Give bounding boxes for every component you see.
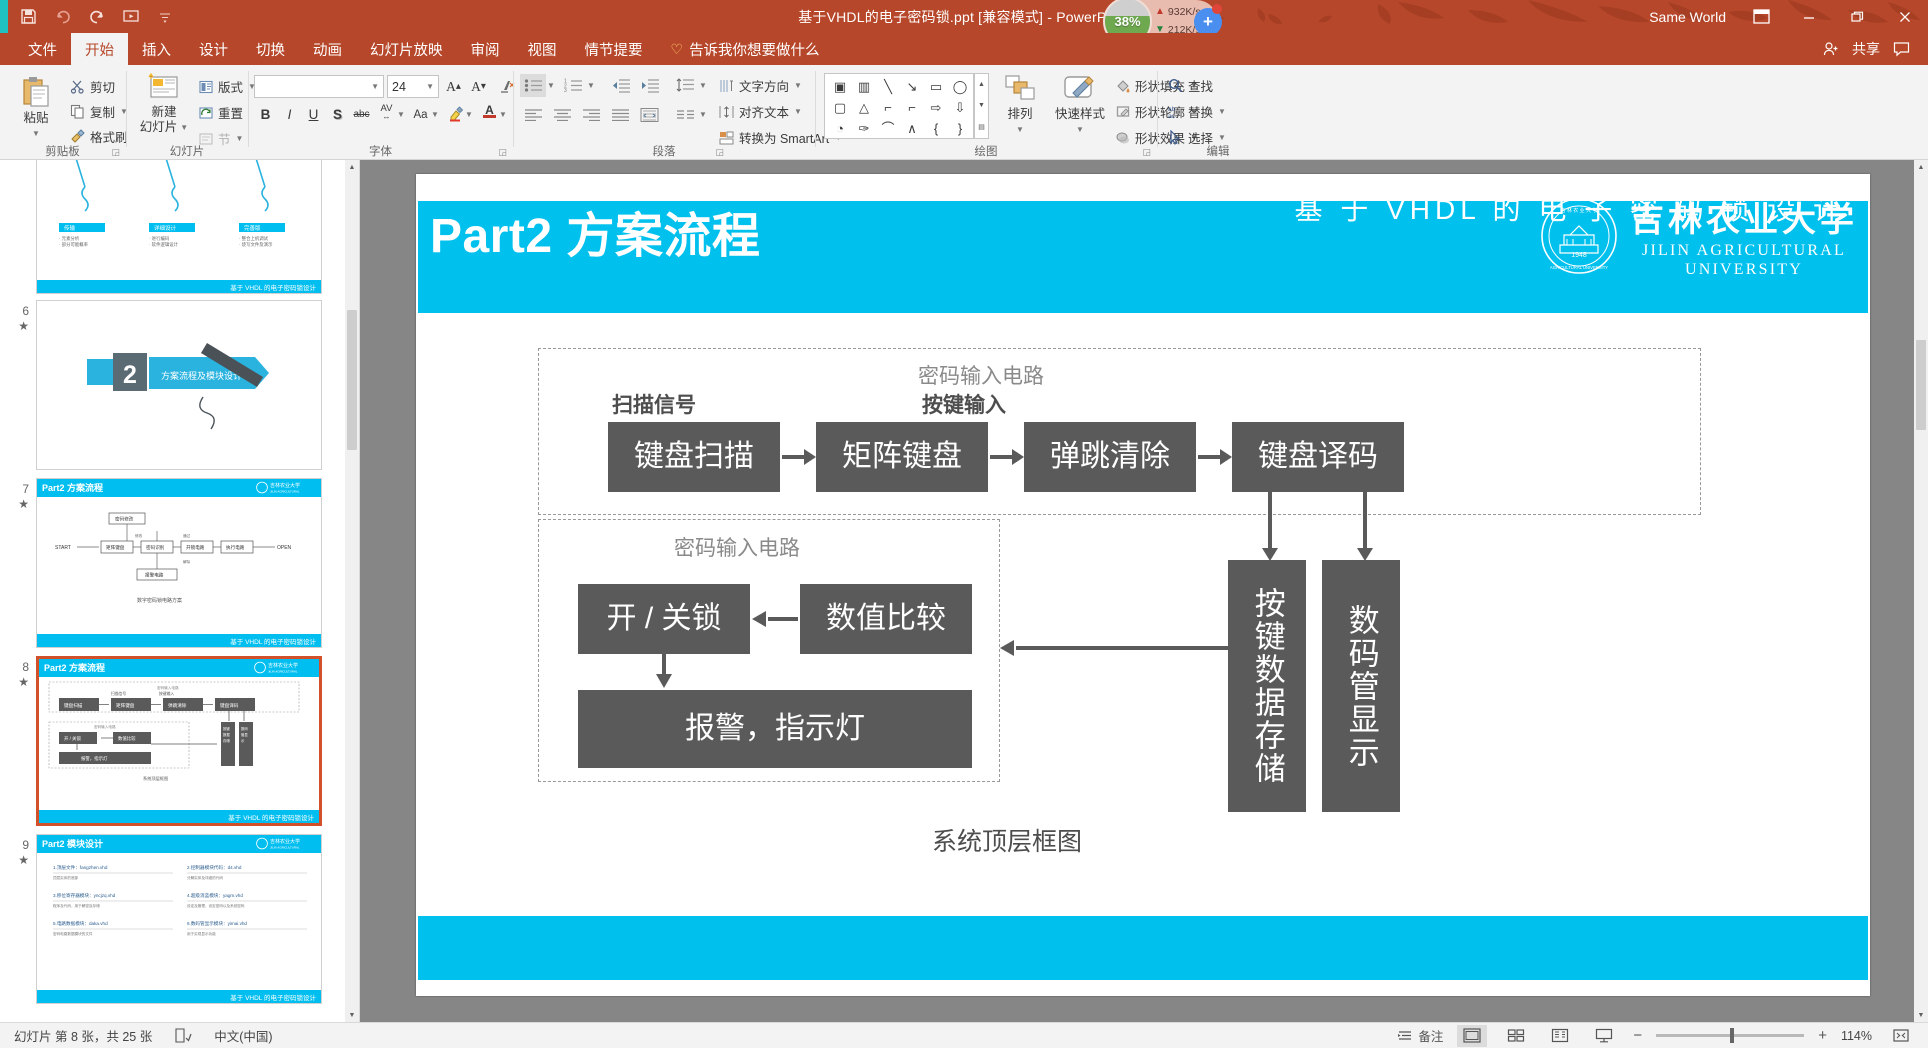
thumb-star-icon: ★: [0, 497, 29, 512]
arrow-debounce-to-decode: [1198, 455, 1222, 459]
svg-text:JILIN AGRICULTURAL: JILIN AGRICULTURAL: [270, 846, 300, 850]
box-matrix-keyboard[interactable]: 矩阵键盘: [816, 422, 988, 492]
customize-quick-access-icon[interactable]: [154, 6, 175, 27]
tell-me-search[interactable]: ♡ 告诉我你想要做什么: [657, 33, 834, 65]
svg-text:JILIN AGRICULTURAL: JILIN AGRICULTURAL: [268, 670, 298, 674]
shape-textbox-icon[interactable]: ▣: [834, 80, 846, 93]
font-color-label: A: [485, 106, 494, 115]
start-slideshow-icon[interactable]: [120, 6, 141, 27]
shape-left-brace-icon[interactable]: {: [934, 122, 938, 135]
shape-elbow-arrow-icon[interactable]: ⌐: [908, 101, 916, 114]
text-direction-caret-icon[interactable]: ▼: [794, 81, 802, 90]
tab-transitions[interactable]: 切换: [242, 33, 299, 65]
cut-button[interactable]: 剪切: [70, 77, 115, 96]
paste-button[interactable]: 粘贴 ▼: [10, 75, 62, 141]
grow-font-button[interactable]: A▴: [442, 75, 465, 98]
paste-icon: [19, 75, 53, 109]
shape-pie-icon[interactable]: ◔: [836, 122, 844, 135]
paragraph-dialog-launcher[interactable]: ◲: [715, 147, 724, 158]
tab-animations[interactable]: 动画: [299, 33, 356, 65]
change-case-caret-icon[interactable]: ▼: [431, 110, 439, 119]
notes-label: 备注: [1418, 1026, 1443, 1045]
tab-insert[interactable]: 插入: [128, 33, 185, 65]
svg-text:START: START: [55, 545, 71, 551]
svg-text:键盘译码: 键盘译码: [220, 702, 239, 709]
select-caret-icon[interactable]: ▼: [1218, 133, 1226, 142]
account-name[interactable]: Same World: [1649, 9, 1726, 25]
svg-text:3.移位寄存器模块：yncjzq.vhd: 3.移位寄存器模块：yncjzq.vhd: [53, 892, 116, 899]
tab-home[interactable]: 开始: [71, 33, 128, 65]
quick-styles-icon: [1061, 73, 1099, 105]
font-name-input[interactable]: ▼: [254, 75, 384, 98]
italic-label: I: [288, 107, 292, 122]
box-keyboard-decode[interactable]: 键盘译码: [1232, 422, 1404, 492]
status-left: 幻灯片 第 8 张，共 25 张 中文(中国): [0, 1025, 273, 1047]
numbering-button[interactable]: 123: [560, 74, 586, 97]
save-icon[interactable]: [18, 6, 39, 27]
shape-down-arrow-icon[interactable]: ⇩: [955, 101, 966, 114]
university-name-en: JILIN AGRICULTURAL UNIVERSITY: [1642, 241, 1846, 279]
shapes-gallery-scroll[interactable]: ▲ ▼ ▤: [974, 73, 989, 139]
svg-text:设定及管理，设定密码以及系统密码: 设定及管理，设定密码以及系统密码: [187, 903, 245, 908]
tab-review[interactable]: 审阅: [457, 33, 514, 65]
new-slide-label-1: 新建: [151, 105, 176, 120]
ribbon-group-editing: 查找 abac 替换 ▼ 选择 ▼ 编辑: [1158, 65, 1278, 160]
svg-text:顶层实体的底部: 顶层实体的底部: [53, 875, 79, 880]
svg-text:存储: 存储: [223, 738, 230, 743]
svg-text:数码: 数码: [241, 726, 248, 731]
group-label-clipboard: 剪贴板: [0, 143, 125, 159]
gallery-down-icon[interactable]: ▼: [978, 102, 985, 109]
slide-editing-stage[interactable]: Part2 方案流程 1948 吉 林 农 业 大 学 AGRICULTURAL…: [360, 160, 1928, 1022]
replace-button[interactable]: abac 替换 ▼: [1168, 102, 1226, 121]
ribbon-group-font: ▼ 24 ▼ A▴ A▾ B I U S abc: [249, 65, 512, 160]
svg-text:2: 2: [123, 361, 137, 389]
thumb-footer-text: 基于 VHDL 的电子密码锁设计: [228, 812, 314, 822]
shadow-label: S: [333, 107, 342, 122]
group-label-font: 字体: [249, 143, 512, 159]
ribbon-tab-bar: 文件 开始 插入 设计 切换 动画 幻灯片放映 审阅 视图 情节提要 ♡ 告诉我…: [0, 33, 1928, 65]
strikethrough-button[interactable]: abc: [350, 103, 373, 126]
stage-scrollbar-thumb[interactable]: [1916, 340, 1926, 430]
box-keyboard-scan[interactable]: 键盘扫描: [608, 422, 780, 492]
lightbulb-icon: ♡: [671, 41, 684, 58]
decrease-indent-button[interactable]: [608, 74, 634, 97]
align-text-icon: [719, 105, 734, 119]
format-painter-icon: [70, 129, 85, 144]
thumb-content-graphic: 2 方案流程及模块设计: [37, 301, 322, 470]
thumb-logo-icon: 吉林农业大学JILIN AGRICULTURAL: [255, 481, 317, 494]
arrow-compare-to-lock: [768, 617, 798, 621]
current-slide[interactable]: Part2 方案流程 1948 吉 林 农 业 大 学 AGRICULTURAL…: [416, 174, 1870, 996]
undo-icon[interactable]: [52, 6, 73, 27]
thumb-star-icon: ★: [0, 675, 29, 690]
replace-caret-icon[interactable]: ▼: [1218, 107, 1226, 116]
reading-view-icon[interactable]: [1545, 1025, 1575, 1047]
shape-triangle-icon[interactable]: △: [859, 101, 869, 114]
paste-label: 粘贴: [23, 111, 48, 126]
shape-oval-icon[interactable]: ◯: [953, 80, 968, 93]
svg-text:完善版: 完善版: [244, 224, 261, 232]
shape-elbow-connector-icon[interactable]: ⌐: [884, 101, 892, 114]
thumbnail-slide-7[interactable]: 7 ★ Part2 方案流程 吉林农业大学JILIN AGRICULTURAL …: [0, 478, 360, 648]
thumb-content-graphic: 1.顶层文件：fangzhen.vhd 2.控制器模块代码：d4.vhd 3.移…: [37, 857, 322, 977]
underline-button[interactable]: U: [302, 103, 325, 126]
zoom-slider-handle[interactable]: [1730, 1028, 1734, 1043]
thumb-number-value: 7: [0, 482, 29, 497]
copy-button[interactable]: 复制 ▼: [70, 102, 128, 121]
svg-text:吉林农业大学: 吉林农业大学: [270, 482, 300, 489]
section-caret-icon[interactable]: ▼: [236, 134, 244, 143]
font-size-input[interactable]: 24 ▼: [387, 75, 439, 98]
shape-arrow-icon[interactable]: ↘: [907, 80, 918, 93]
svg-text:密码输入电路: 密码输入电路: [157, 685, 179, 690]
notification-dot: [1212, 4, 1222, 14]
thumbnail-number: ★: [0, 160, 36, 294]
svg-text:1.顶层文件：fangzhen.vhd: 1.顶层文件：fangzhen.vhd: [53, 864, 108, 871]
label-scan-signal: 扫描信号: [612, 389, 696, 419]
drawing-dialog-launcher[interactable]: ◲: [1142, 147, 1151, 158]
align-text-button[interactable]: 对齐文本 ▼: [719, 102, 802, 121]
svg-text:扫描信号: 扫描信号: [111, 691, 126, 696]
align-right-button[interactable]: [578, 103, 604, 126]
arrow-down-to-store: [1268, 492, 1272, 552]
clipboard-dialog-launcher[interactable]: ◲: [111, 147, 120, 158]
quick-styles-label: 快速样式: [1055, 107, 1105, 122]
box-debounce[interactable]: 弹跳清除: [1024, 422, 1196, 492]
thumb-star-icon: ★: [0, 853, 29, 868]
box-value-compare[interactable]: 数值比较: [800, 584, 972, 654]
font-name-caret-icon[interactable]: ▼: [371, 82, 379, 91]
new-slide-icon: [147, 73, 181, 103]
box-lock-unlock[interactable]: 开 / 关锁: [578, 584, 750, 654]
svg-text:5.电路数据模块：daka.vhd: 5.电路数据模块：daka.vhd: [53, 920, 108, 927]
tab-storyboarding[interactable]: 情节提要: [571, 33, 657, 65]
box-alarm-indicator[interactable]: 报警，指示灯: [578, 690, 972, 768]
gallery-more-icon[interactable]: ▤: [978, 123, 985, 131]
download-arrow-icon: ▼: [1155, 21, 1165, 33]
svg-text:2.控制器模块代码：d4.vhd: 2.控制器模块代码：d4.vhd: [187, 864, 242, 871]
box-digital-display[interactable]: 数码管显示: [1322, 560, 1400, 812]
svg-text:解除: 解除: [183, 559, 191, 564]
svg-text:· 元素分析: · 元素分析: [59, 235, 80, 242]
university-name-en-line1: JILIN AGRICULTURAL: [1642, 241, 1846, 260]
text-direction-icon: [719, 79, 734, 93]
svg-text:报警，指示灯: 报警，指示灯: [81, 755, 108, 762]
zoom-out-button[interactable]: −: [1633, 1027, 1642, 1044]
scissors-icon: [70, 79, 85, 94]
thumbnail-slide-9[interactable]: 9 ★ Part2 模块设计 吉林农业大学JILIN AGRICULTURAL …: [0, 834, 360, 1004]
font-color-button[interactable]: A: [478, 100, 501, 123]
svg-text:数值比较: 数值比较: [118, 735, 136, 742]
svg-text:密码输入电路: 密码输入电路: [94, 724, 116, 729]
arrowhead-compare-to-lock: [752, 611, 766, 627]
zoom-level[interactable]: 114%: [1841, 1029, 1872, 1043]
character-spacing-button[interactable]: AV ↔: [375, 101, 398, 124]
svg-text:按键输入: 按键输入: [159, 691, 174, 696]
redo-icon[interactable]: [86, 6, 107, 27]
change-case-label: Aa: [413, 109, 427, 121]
thumb-content-graphic: 密码修改 矩阵键盘 密码识别 开锁电路 执行电路 报警电路 START OPEN…: [37, 499, 322, 619]
close-icon[interactable]: [1892, 4, 1918, 30]
comments-icon[interactable]: [1888, 36, 1914, 62]
quick-access-toolbar[interactable]: [18, 0, 175, 33]
bullets-caret-icon[interactable]: ▼: [547, 81, 555, 90]
search-icon: [1168, 78, 1183, 93]
svg-text:密码修改: 密码修改: [115, 516, 134, 523]
slide-title[interactable]: Part2 方案流程: [430, 196, 760, 266]
ribbon-group-drawing: ▣ ▥ ╲ ↘ ▭ ◯ ▢ △ ⌐ ⌐ ⇨ ⇩ ◔ ✑ ⌒ ∧ { } ▲: [816, 65, 1156, 160]
thumbnail-preview[interactable]: Part1 整体设计 吉林农业大学JILIN AGRICULTURAL 传输 详…: [36, 160, 322, 294]
thumbnail-preview[interactable]: Part2 模块设计 吉林农业大学JILIN AGRICULTURAL 1.顶层…: [36, 834, 322, 1004]
thumb-number-value: 6: [0, 304, 29, 319]
svg-text:传输: 传输: [64, 224, 76, 232]
slide-footer-text[interactable]: 基 于 VHDL 的 电 子 密 码 锁 设 计: [1295, 188, 1846, 228]
shape-freeform-icon[interactable]: ✑: [859, 122, 870, 135]
powerpoint-window: 基于VHDL的电子密码锁.ppt [兼容模式] - PowerPoint 38%…: [0, 0, 1928, 1048]
thumb-number-value: 9: [0, 838, 29, 853]
font-size-caret-icon[interactable]: ▼: [426, 82, 434, 91]
arrowhead-debounce-to-decode: [1220, 449, 1232, 465]
reset-label: 重置: [218, 103, 243, 122]
svg-text:AGRICULTURAL UNIVERSITY: AGRICULTURAL UNIVERSITY: [1550, 265, 1608, 270]
shape-line-icon[interactable]: ╲: [884, 80, 892, 93]
quick-styles-button[interactable]: 快速样式 ▼: [1049, 73, 1111, 137]
thumb-star-icon: ★: [0, 319, 29, 334]
thumbnail-preview[interactable]: Part2 方案流程 吉林农业大学JILIN AGRICULTURAL 密码修改…: [36, 478, 322, 648]
network-speed-widget[interactable]: 38% ▲932K/s ▼212K/s +: [1111, 0, 1218, 33]
label-lower-circuit: 密码输入电路: [674, 532, 800, 562]
thumb-number-value: 8: [0, 660, 29, 675]
italic-button[interactable]: I: [278, 103, 301, 126]
slide-thumbnail-pane[interactable]: ★ Part1 整体设计 吉林农业大学JILIN AGRICULTURAL 传输: [0, 160, 360, 1022]
svg-text:OPEN: OPEN: [277, 545, 292, 551]
thumbnail-slide-5[interactable]: ★ Part1 整体设计 吉林农业大学JILIN AGRICULTURAL 传输: [0, 160, 360, 294]
svg-text:用于实现显示功能: 用于实现显示功能: [187, 931, 216, 936]
font-color-swatch: [483, 115, 496, 118]
svg-text:修改: 修改: [135, 533, 143, 538]
thumb-title: Part2 方案流程: [44, 661, 105, 674]
zoom-in-button[interactable]: +: [1818, 1027, 1827, 1044]
slideshow-icon[interactable]: [1589, 1025, 1619, 1047]
line-spacing-button[interactable]: [672, 74, 698, 97]
svg-text:通过: 通过: [183, 533, 191, 538]
shapes-gallery[interactable]: ▣ ▥ ╲ ↘ ▭ ◯ ▢ △ ⌐ ⌐ ⇨ ⇩ ◔ ✑ ⌒ ∧ { }: [824, 73, 974, 139]
paste-caret-icon[interactable]: ▼: [32, 126, 40, 141]
replace-icon: abac: [1168, 104, 1183, 119]
new-slide-button[interactable]: 新建 幻灯片▼: [135, 73, 193, 135]
tab-slideshow[interactable]: 幻灯片放映: [356, 33, 457, 65]
svg-text:吉林农业大学: 吉林农业大学: [270, 838, 300, 845]
tab-design[interactable]: 设计: [185, 33, 242, 65]
font-dialog-launcher[interactable]: ◲: [498, 147, 507, 158]
language-indicator[interactable]: 中文(中国): [214, 1026, 272, 1045]
label-key-input: 按键输入: [922, 389, 1006, 419]
justify-button[interactable]: [607, 103, 633, 126]
minimize-icon[interactable]: [1796, 4, 1822, 30]
thumbnail-number: 9 ★: [0, 834, 36, 1004]
thumbnail-preview[interactable]: 2 方案流程及模块设计: [36, 300, 322, 470]
ribbon-group-paragraph: ▼ 123 ▼ ▼: [514, 65, 814, 160]
title-bar: 基于VHDL的电子密码锁.ppt [兼容模式] - PowerPoint 38%…: [0, 0, 1928, 33]
shape-right-arrow-icon[interactable]: ⇨: [931, 101, 942, 114]
thumb-content-graphic: 传输 详细设计 完善版 · 元素分析 · 部分可能概率 · 进行编码 · 软件逻…: [37, 160, 322, 257]
svg-text:系统顶层框图: 系统顶层框图: [143, 775, 168, 782]
char-spacing-caret-icon[interactable]: ▼: [397, 110, 405, 119]
ribbon-display-options-icon[interactable]: [1748, 4, 1774, 30]
bold-label: B: [261, 107, 271, 122]
stage-scroll-up-icon[interactable]: ▲: [1914, 160, 1928, 174]
scroll-up-icon[interactable]: ▲: [345, 160, 359, 174]
bold-button[interactable]: B: [254, 103, 277, 126]
line-spacing-caret-icon[interactable]: ▼: [699, 81, 707, 90]
underline-label: U: [309, 107, 319, 122]
stage-scrollbar[interactable]: ▲ ▼: [1914, 160, 1928, 1022]
scrollbar-thumb[interactable]: [347, 310, 357, 450]
thumb-footer-text: 基于 VHDL 的电子密码锁设计: [230, 636, 316, 646]
svg-text:JILIN AGRICULTURAL: JILIN AGRICULTURAL: [270, 490, 300, 494]
svg-text:数据: 数据: [223, 732, 230, 737]
thumbnail-slide-6[interactable]: 6 ★ 2 方案流程及模块设计: [0, 300, 360, 470]
distribute-button[interactable]: [636, 103, 662, 126]
svg-text:· 部分可能概率: · 部分可能概率: [59, 241, 89, 248]
new-slide-label-2: 幻灯片: [140, 120, 178, 135]
svg-text:· 烧写文件及演示: · 烧写文件及演示: [239, 241, 273, 248]
svg-text:矩阵键盘: 矩阵键盘: [106, 544, 125, 551]
gallery-up-icon[interactable]: ▲: [978, 81, 985, 88]
svg-text:执行电路: 执行电路: [226, 544, 245, 551]
layout-label: 版式: [218, 77, 243, 96]
thumbnail-preview-selected[interactable]: Part2 方案流程 吉林农业大学JILIN AGRICULTURAL 密码输入…: [36, 656, 322, 826]
tell-me-label: 告诉我你想要做什么: [689, 39, 820, 60]
arrow-down-to-display: [1363, 492, 1367, 552]
svg-text:分解实体及详细的代码: 分解实体及详细的代码: [187, 875, 223, 880]
cut-label: 剪切: [90, 77, 115, 96]
usage-percent: 38%: [1114, 14, 1140, 29]
arrow-scan-to-matrix: [782, 455, 806, 459]
arrowhead-scan-to-matrix: [804, 449, 816, 465]
thumbnail-number: 8 ★: [0, 656, 36, 826]
svg-text:密码识别: 密码识别: [146, 544, 165, 551]
upload-arrow-icon: ▲: [1155, 3, 1165, 21]
columns-caret-icon[interactable]: ▼: [699, 110, 707, 119]
svg-text:数字密码锁电路方案: 数字密码锁电路方案: [137, 597, 182, 604]
share-person-icon[interactable]: [1818, 36, 1844, 62]
notes-button[interactable]: 备注: [1397, 1025, 1443, 1047]
arrow-storage-to-compare: [1016, 646, 1228, 650]
zoom-slider[interactable]: [1656, 1034, 1804, 1037]
share-area: 共享: [1818, 33, 1914, 65]
cpu-usage-ring: 38%: [1103, 0, 1152, 33]
thumb-logo-icon: 吉林农业大学JILIN AGRICULTURAL: [255, 837, 317, 850]
svg-text:· 进行编码: · 进行编码: [149, 235, 170, 242]
reset-button[interactable]: 重置: [199, 103, 243, 122]
stage-scroll-down-icon[interactable]: ▼: [1914, 1008, 1928, 1022]
columns-button[interactable]: [672, 103, 698, 126]
bullets-button[interactable]: [520, 74, 546, 97]
slide-counter[interactable]: 幻灯片 第 8 张，共 25 张: [14, 1026, 152, 1045]
arrowhead-matrix-to-debounce: [1012, 449, 1024, 465]
quick-styles-caret-icon[interactable]: ▼: [1076, 122, 1084, 137]
share-label[interactable]: 共享: [1852, 39, 1880, 59]
thumb-logo-icon: 吉林农业大学JILIN AGRICULTURAL: [253, 661, 315, 674]
text-shadow-button[interactable]: S: [326, 103, 349, 126]
tab-view[interactable]: 视图: [514, 33, 571, 65]
fit-slide-icon[interactable]: [1886, 1025, 1916, 1047]
align-center-button[interactable]: [549, 103, 575, 126]
svg-text:键盘扫描: 键盘扫描: [64, 702, 83, 709]
normal-view-icon[interactable]: [1457, 1025, 1487, 1047]
align-text-label: 对齐文本: [739, 102, 789, 121]
shape-rounded-rect-icon[interactable]: ▢: [834, 101, 846, 114]
svg-text:弹跳清除: 弹跳清除: [168, 702, 187, 709]
thumbnail-slide-8[interactable]: 8 ★ Part2 方案流程 吉林农业大学JILIN AGRICULTURAL …: [0, 656, 360, 826]
slide-caption[interactable]: 系统顶层框图: [932, 822, 1082, 858]
reset-icon: [199, 106, 213, 120]
new-slide-caret-icon[interactable]: ▼: [180, 120, 188, 135]
shape-outline-icon: [1116, 105, 1130, 119]
ribbon-group-slides: 新建 幻灯片▼ 版式 ▼ 重置 节 ▼ 幻灯片: [127, 65, 247, 160]
svg-text:详细设计: 详细设计: [154, 224, 177, 232]
find-button[interactable]: 查找: [1168, 76, 1213, 95]
replace-label: 替换: [1188, 102, 1213, 121]
find-label: 查找: [1188, 76, 1213, 95]
svg-text:3: 3: [564, 88, 567, 93]
shape-right-brace-icon[interactable]: }: [958, 122, 962, 135]
increase-indent-button[interactable]: [637, 74, 663, 97]
svg-text:· 软件逻辑设计: · 软件逻辑设计: [149, 241, 179, 248]
thumbnail-number: 7 ★: [0, 478, 36, 648]
svg-text:4.超级消蓝模块：yagm.vhd: 4.超级消蓝模块：yagm.vhd: [187, 892, 243, 899]
align-left-button[interactable]: [520, 103, 546, 126]
thumbnail-scrollbar[interactable]: ▲ ▼: [345, 160, 359, 1022]
restore-icon[interactable]: [1844, 4, 1870, 30]
shape-rectangle-icon[interactable]: ▭: [930, 80, 942, 93]
copy-label: 复制: [90, 102, 115, 121]
slide-sorter-icon[interactable]: [1501, 1025, 1531, 1047]
box-key-data-storage[interactable]: 按键数据存储: [1228, 560, 1306, 812]
arrange-icon: [1003, 73, 1037, 105]
align-text-caret-icon[interactable]: ▼: [794, 107, 802, 116]
svg-text:6.数码管显示模块：yimai.vhd: 6.数码管显示模块：yimai.vhd: [187, 920, 247, 927]
svg-text:ac: ac: [1168, 113, 1176, 119]
shape-vertical-textbox-icon[interactable]: ▥: [858, 80, 870, 93]
spellcheck-icon[interactable]: [168, 1025, 198, 1047]
arrange-button[interactable]: 排列 ▼: [996, 73, 1044, 137]
text-direction-button[interactable]: 文字方向 ▼: [719, 76, 802, 95]
label-top-circuit: 密码输入电路: [918, 360, 1044, 390]
copy-icon: [70, 104, 85, 119]
shape-arc-icon[interactable]: ⌒: [881, 122, 894, 135]
thumb-footer-text: 基于 VHDL 的电子密码锁设计: [230, 992, 316, 1002]
svg-text:方案流程及模块设计: 方案流程及模块设计: [161, 370, 242, 381]
scroll-down-icon[interactable]: ▼: [345, 1008, 359, 1022]
shrink-font-button[interactable]: A▾: [467, 75, 490, 98]
svg-text:ab: ab: [1168, 106, 1176, 113]
svg-text:矩阵键盘: 矩阵键盘: [116, 702, 135, 709]
shape-curve-icon[interactable]: ∧: [907, 122, 917, 135]
numbering-caret-icon[interactable]: ▼: [587, 81, 595, 90]
thumb-title: Part2 方案流程: [42, 481, 103, 494]
status-right: 备注 − + 114%: [1397, 1025, 1928, 1047]
change-case-button[interactable]: Aa: [409, 103, 432, 126]
highlight-caret-icon[interactable]: ▼: [465, 110, 473, 119]
font-color-caret-icon[interactable]: ▼: [499, 110, 507, 119]
tab-file[interactable]: 文件: [14, 33, 71, 65]
svg-text:程序及代码，用于解密及存储: 程序及代码，用于解密及存储: [53, 903, 100, 908]
svg-text:开 / 关锁: 开 / 关锁: [64, 735, 81, 742]
arrange-caret-icon[interactable]: ▼: [1016, 122, 1024, 137]
